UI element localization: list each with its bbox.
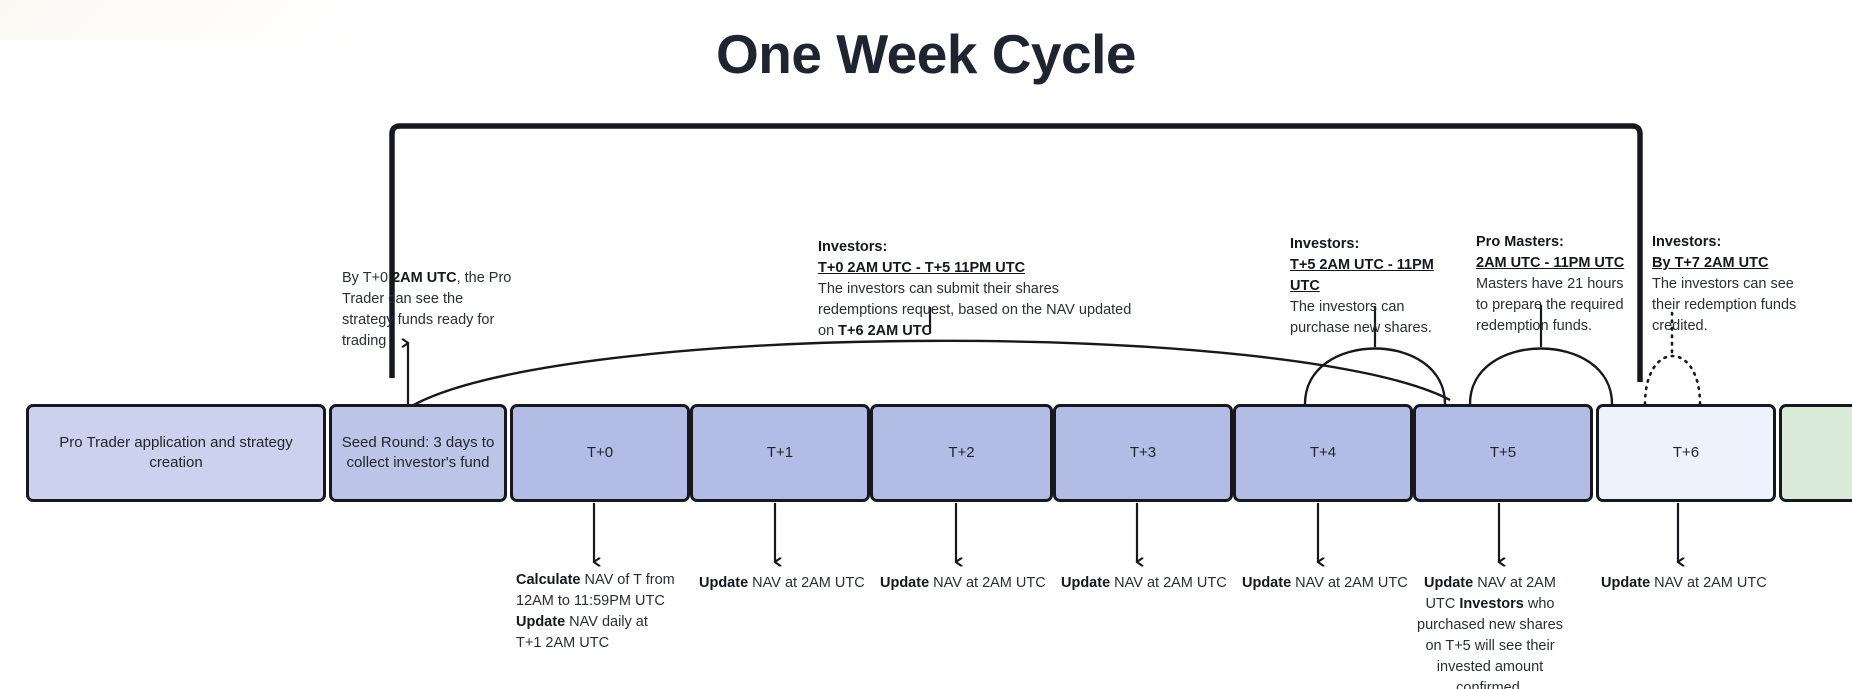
timeline-box-label: T+2 xyxy=(942,443,980,463)
timeline-box-label: Seed Round: 3 days to collect investor's… xyxy=(332,433,504,474)
bottom-note-rest: NAV at 2AM UTC xyxy=(1291,575,1408,591)
bottom-note-bold-2: Update xyxy=(516,614,565,630)
note-body: Masters have 21 hours to prepare the req… xyxy=(1476,274,1628,337)
note-range: T+0 2AM UTC - T+5 11PM UTC xyxy=(818,260,1025,276)
timeline-box-label: T+0 xyxy=(581,443,619,463)
note-range: 2AM UTC - 11PM UTC xyxy=(1476,255,1624,271)
note-redemption-credited: Investors: By T+7 2AM UTC The investors … xyxy=(1652,232,1800,337)
note-body: The investors can see their redemption f… xyxy=(1652,274,1800,337)
timeline-box-t4[interactable]: T+4 xyxy=(1233,404,1413,502)
bottom-note-t4: Update NAV at 2AM UTC xyxy=(1242,573,1422,594)
bottom-note-rest: NAV at 2AM UTC xyxy=(929,575,1046,591)
timeline-box-label: T+1 xyxy=(761,443,799,463)
bottom-note-t6: Update NAV at 2AM UTC xyxy=(1601,573,1781,594)
bottom-note-rest: NAV at 2AM UTC xyxy=(1650,575,1767,591)
note-body-bold: T+6 2AM UTC xyxy=(838,323,932,339)
note-title: Investors: xyxy=(1652,232,1800,253)
note-title: Investors: xyxy=(1290,234,1456,255)
timeline-box-t5[interactable]: T+5 xyxy=(1413,404,1593,502)
note-pro-trader-start: By T+0 2AM UTC, the Pro Trader can see t… xyxy=(342,268,512,352)
timeline-box-t3[interactable]: T+3 xyxy=(1053,404,1233,502)
timeline-box-t6[interactable]: T+6 xyxy=(1596,404,1776,502)
bottom-note-t1: Update NAV at 2AM UTC xyxy=(699,573,879,594)
timeline-box-label: T+5 xyxy=(1484,443,1522,463)
note-redemption-window: Investors: T+0 2AM UTC - T+5 11PM UTC Th… xyxy=(818,237,1138,342)
timeline-box-label: T+4 xyxy=(1304,443,1342,463)
note-pro-masters: Pro Masters: 2AM UTC - 11PM UTC Masters … xyxy=(1476,232,1628,337)
bottom-tick-arrows xyxy=(594,503,1678,562)
bottom-note-bold: Update xyxy=(1061,575,1110,591)
note-purchase-window: Investors: T+5 2AM UTC - 11PM UTC The in… xyxy=(1290,234,1456,339)
note-range: By T+7 2AM UTC xyxy=(1652,255,1768,271)
note-body: The investors can purchase new shares. xyxy=(1290,297,1456,339)
bottom-note-bold: Update xyxy=(1242,575,1291,591)
timeline-track: Pro Trader application and strategy crea… xyxy=(26,404,1852,502)
timeline-box-t0[interactable]: T+0 xyxy=(510,404,690,502)
bottom-note-bold: Update xyxy=(1601,575,1650,591)
bottom-note-t0: Calculate NAV of T from 12AM to 11:59PM … xyxy=(516,570,676,654)
bottom-note-bold: Update xyxy=(699,575,748,591)
note-range: T+5 2AM UTC - 11PM UTC xyxy=(1290,257,1434,294)
note-body: Trader can see the strategy funds ready … xyxy=(342,291,494,349)
timeline-box-pro-trader-application[interactable]: Pro Trader application and strategy crea… xyxy=(26,404,326,502)
note-line-pre: By T+0 xyxy=(342,270,392,286)
timeline-box-t1[interactable]: T+1 xyxy=(690,404,870,502)
bottom-note-rest: NAV at 2AM UTC xyxy=(1110,575,1227,591)
bottom-note-bold: Update xyxy=(1424,575,1473,591)
bottom-note-t2: Update NAV at 2AM UTC xyxy=(880,573,1060,594)
bottom-note-bold: Update xyxy=(880,575,929,591)
page-title: One Week Cycle xyxy=(0,22,1852,86)
timeline-box-t2[interactable]: T+2 xyxy=(870,404,1053,502)
note-line-post: , the Pro xyxy=(457,270,512,286)
bottom-note-t3: Update NAV at 2AM UTC xyxy=(1061,573,1241,594)
note-title: Investors: xyxy=(818,237,1138,258)
note-title: Pro Masters: xyxy=(1476,232,1628,253)
note-line-bold: 2AM UTC xyxy=(392,270,456,286)
timeline-box-t7[interactable]: T+7 xyxy=(1779,404,1852,502)
diagram-canvas: One Week Cycle xyxy=(0,0,1852,689)
timeline-box-seed-round[interactable]: Seed Round: 3 days to collect investor's… xyxy=(329,404,507,502)
timeline-box-label: T+6 xyxy=(1667,443,1705,463)
bottom-note-t5: Update NAV at 2AM UTC Investors who purc… xyxy=(1412,573,1568,689)
timeline-box-label: T+3 xyxy=(1124,443,1162,463)
bottom-note-bold-2: Investors xyxy=(1459,596,1523,612)
timeline-box-label: Pro Trader application and strategy crea… xyxy=(29,433,323,474)
bottom-note-bold: Calculate xyxy=(516,572,580,588)
bottom-note-rest: NAV at 2AM UTC xyxy=(748,575,865,591)
